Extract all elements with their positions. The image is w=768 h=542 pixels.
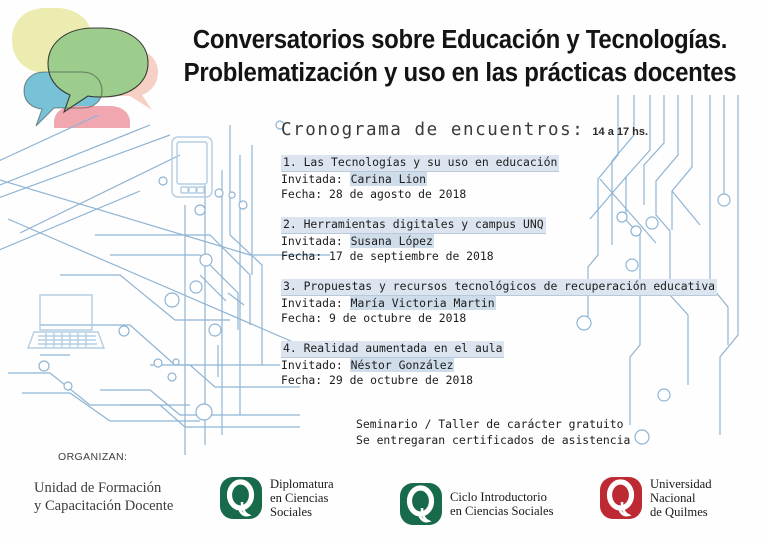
circuit-node (173, 359, 179, 365)
logo-text-line-2: en Ciencias (270, 491, 334, 505)
entry-date-value: 9 de octubre de 2018 (329, 311, 466, 325)
schedule-heading: Cronograma de encuentros: (281, 120, 584, 140)
logo-unidad-formacion: Unidad de Formación y Capacitación Docen… (34, 479, 173, 515)
circuit-node (39, 361, 49, 371)
unq-q-mark-icon (599, 476, 643, 520)
entry-date-label: Fecha: (281, 373, 322, 387)
logo-text-line-3: Sociales (270, 505, 334, 519)
circuit-node (190, 281, 202, 293)
logo-ciclo-introductorio: Ciclo Introductorio en Ciencias Sociales (399, 482, 554, 526)
title-line-1: Conversatorios sobre Educación y Tecnolo… (178, 24, 742, 57)
circuit-node (215, 189, 223, 197)
logo-diplomatura: Diplomatura en Ciencias Sociales (219, 476, 334, 520)
entry-date: Fecha: 17 de septiembre de 2018 (281, 249, 768, 265)
entry-guest: Invitada: Susana López (281, 234, 768, 250)
organizers-label: ORGANIZAN: (58, 451, 127, 463)
entry-title: 2. Herramientas digitales y campus UNQ (281, 217, 546, 234)
schedule-entry: 4. Realidad aumentada en el aula Invitad… (281, 339, 768, 389)
logo-text-line-1: Ciclo Introductorio (450, 490, 554, 504)
entry-guest-name: Néstor González (350, 358, 455, 372)
entry-guest-name: Susana López (350, 234, 434, 248)
tablet-icon (172, 137, 212, 197)
notes-block: Seminario / Taller de carácter gratuito … (356, 417, 630, 448)
circuit-node (196, 404, 212, 420)
notes-line-2: Se entregaran certificados de asistencia (356, 433, 630, 449)
entry-date-value: 28 de agosto de 2018 (329, 187, 466, 201)
entry-guest-label: Invitado: (281, 358, 343, 372)
entry-date: Fecha: 29 de octubre de 2018 (281, 373, 768, 389)
unq-q-mark-icon (219, 476, 263, 520)
logo-text-line-3: de Quilmes (650, 505, 712, 519)
logo-text-line-2: y Capacitación Docente (34, 497, 173, 515)
entry-guest-name: María Victoria Martin (350, 296, 496, 310)
circuit-node (159, 177, 167, 185)
entry-guest: Invitado: Néstor González (281, 358, 768, 374)
circuit-node (168, 373, 176, 381)
logo-text-line-1: Unidad de Formación (34, 479, 173, 497)
schedule-entry: 1. Las Tecnologías y su uso en educación… (281, 153, 768, 203)
entry-date-label: Fecha: (281, 187, 322, 201)
poster-title: Conversatorios sobre Educación y Tecnolo… (160, 24, 760, 90)
entry-date-value: 29 de octubre de 2018 (329, 373, 473, 387)
entry-guest-label: Invitada: (281, 172, 343, 186)
schedule-section: Cronograma de encuentros: 14 a 17 hs. 1.… (281, 120, 768, 401)
logo-text-line-1: Universidad (650, 477, 712, 491)
entry-title: 4. Realidad aumentada en el aula (281, 341, 504, 358)
title-line-2: Problematización y uso en las prácticas … (178, 57, 742, 90)
unq-q-mark-icon (399, 482, 443, 526)
circuit-node (229, 192, 235, 198)
circuit-node (195, 205, 205, 215)
circuit-node (64, 382, 72, 390)
entry-date-label: Fecha: (281, 311, 322, 325)
circuit-node (239, 201, 247, 209)
poster-canvas: Conversatorios sobre Educación y Tecnolo… (0, 0, 768, 542)
entry-guest-label: Invitada: (281, 234, 343, 248)
entry-date: Fecha: 9 de octubre de 2018 (281, 311, 768, 327)
laptop-icon (28, 295, 104, 348)
entry-guest-label: Invitada: (281, 296, 343, 310)
logo-text-line-1: Diplomatura (270, 477, 334, 491)
circuit-node (154, 359, 162, 367)
logo-text-line-2: en Ciencias Sociales (450, 504, 554, 518)
logo-text-line-2: Nacional (650, 491, 712, 505)
organizer-logos: Unidad de Formación y Capacitación Docen… (34, 476, 754, 536)
logo-universidad-nacional-quilmes: Universidad Nacional de Quilmes (599, 476, 712, 520)
entry-guest: Invitada: Carina Lion (281, 172, 768, 188)
schedule-hours: 14 a 17 hs. (590, 126, 648, 138)
logo-text: Ciclo Introductorio en Ciencias Sociales (450, 490, 554, 518)
notes-line-1: Seminario / Taller de carácter gratuito (356, 417, 630, 433)
logo-text: Diplomatura en Ciencias Sociales (270, 477, 334, 520)
speech-bubbles-graphic (2, 0, 162, 128)
entry-guest: Invitada: María Victoria Martin (281, 296, 768, 312)
circuit-node (165, 293, 179, 307)
entry-title: 3. Propuestas y recursos tecnológicos de… (281, 279, 717, 296)
circuit-node (635, 430, 649, 444)
entry-title: 1. Las Tecnologías y su uso en educación (281, 155, 559, 172)
schedule-heading-row: Cronograma de encuentros: 14 a 17 hs. (281, 120, 768, 140)
schedule-entry: 2. Herramientas digitales y campus UNQ I… (281, 215, 768, 265)
entry-date-label: Fecha: (281, 249, 322, 263)
circuit-node (200, 254, 212, 266)
logo-text: Universidad Nacional de Quilmes (650, 477, 712, 520)
schedule-entry: 3. Propuestas y recursos tecnológicos de… (281, 277, 768, 327)
entry-date: Fecha: 28 de agosto de 2018 (281, 187, 768, 203)
logo-text: Unidad de Formación y Capacitación Docen… (34, 479, 173, 515)
circuit-node (209, 324, 221, 336)
entry-date-value: 17 de septiembre de 2018 (329, 249, 494, 263)
circuit-node (119, 326, 129, 336)
entry-guest-name: Carina Lion (350, 172, 427, 186)
